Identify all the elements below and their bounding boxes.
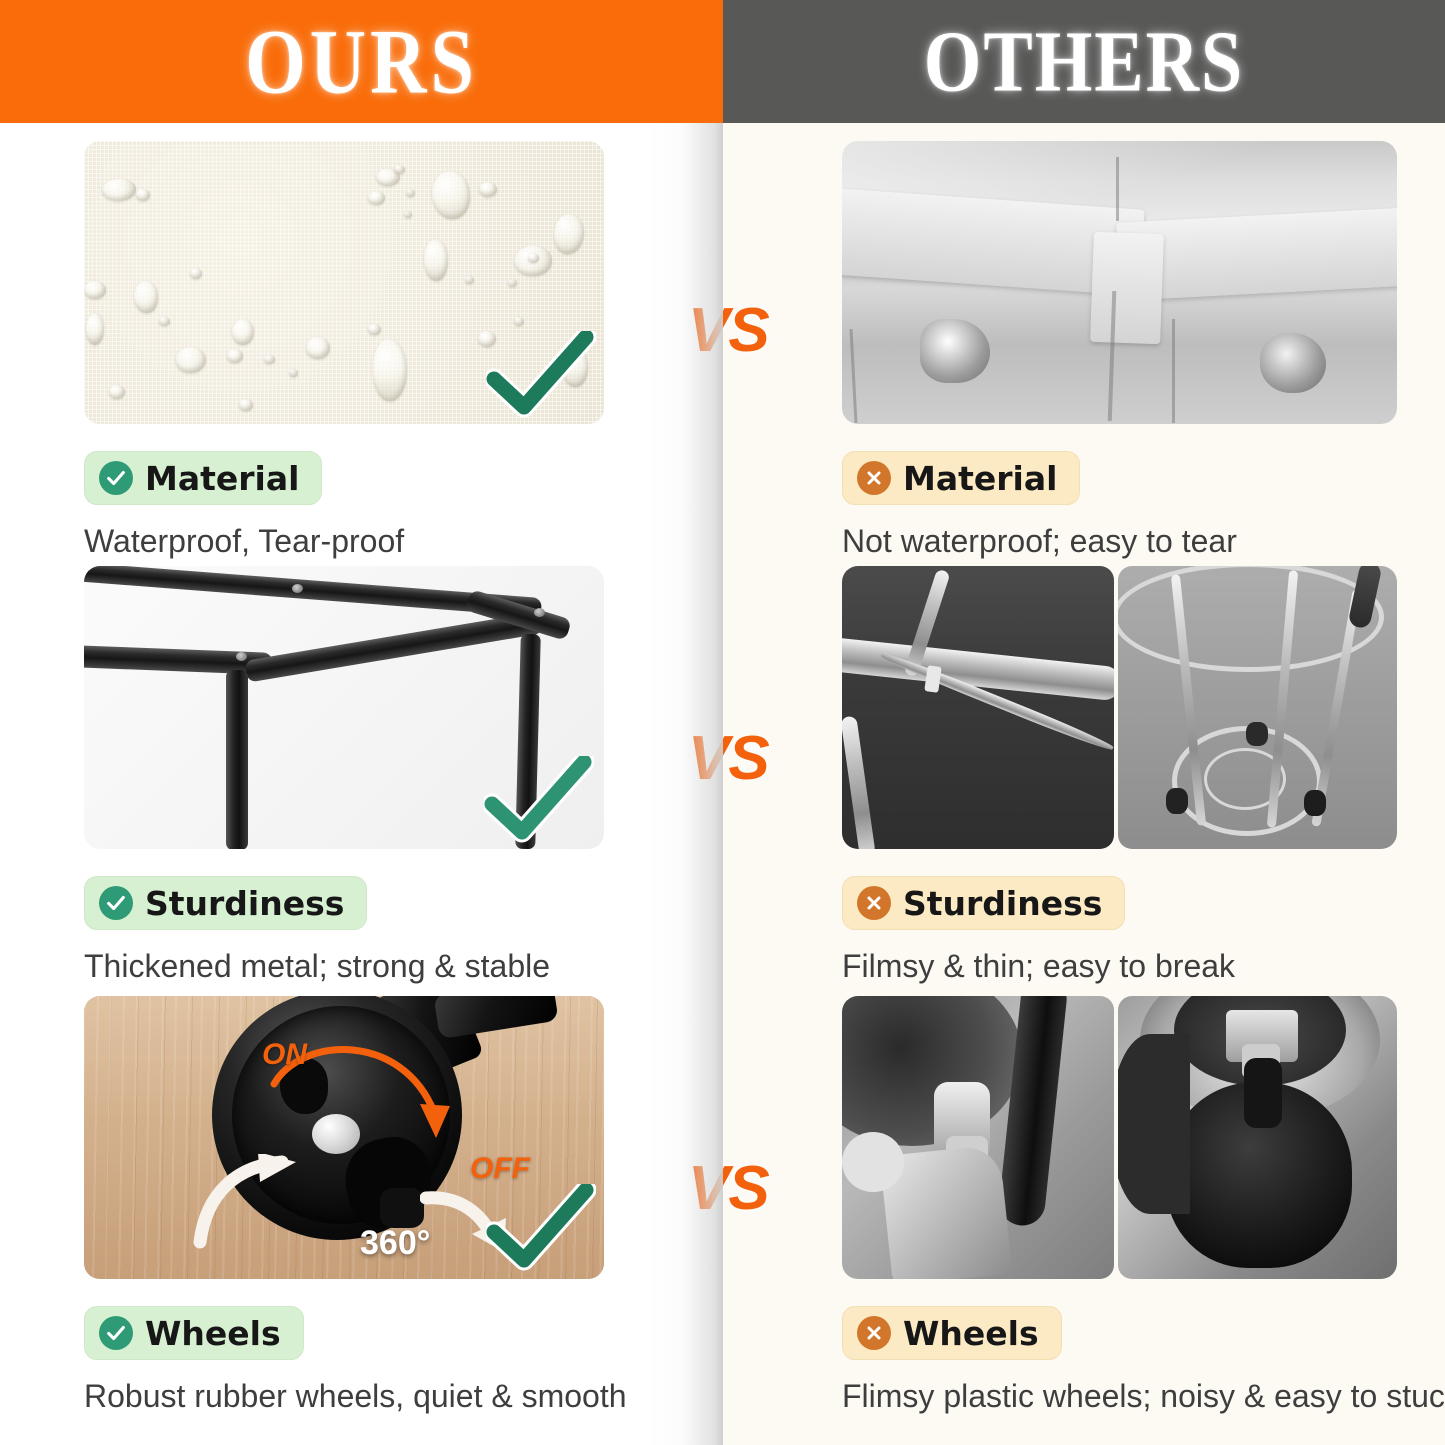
vs-separator-1: VS [688,300,769,362]
others-material-block: Material Not waterproof; easy to tear [842,141,1402,560]
plastic-wheel-image-a [842,996,1114,1279]
plastic-wheel-photo-b [1118,996,1397,1279]
ours-wheels-check-icon [486,1184,596,1272]
bent-tube-photo [842,566,1114,849]
ours-wheels-block: ON OFF 360° Wheels Robust rubber wheels,… [84,996,604,1415]
cross-circle-icon [857,461,891,495]
others-wheels-description: Flimsy plastic wheels; noisy & easy to s… [842,1378,1402,1415]
others-header-panel: OTHERS [723,0,1445,123]
cross-circle-icon [857,886,891,920]
vs-separator-2: VS [688,728,769,790]
comparison-infographic: OURS OTHERS [0,0,1445,1445]
wheel-on-label: ON [262,1040,307,1070]
ours-wheels-badge-label: Wheels [145,1317,281,1350]
ours-sturdiness-badge: Sturdiness [84,876,367,930]
ours-wheels-photo: ON OFF 360° [84,996,604,1279]
ours-wheels-badge: Wheels [84,1306,304,1360]
ours-material-block: Material Waterproof, Tear-proof [84,141,604,560]
check-circle-icon [99,1316,133,1350]
others-wheels-badge-label: Wheels [903,1317,1039,1350]
wheel-360-label: 360° [360,1226,430,1260]
ours-sturdiness-badge-label: Sturdiness [145,887,344,920]
ours-sturdiness-description: Thickened metal; strong & stable [84,948,604,985]
others-material-badge: Material [842,451,1080,505]
check-circle-icon [99,886,133,920]
check-circle-icon [99,461,133,495]
flimsy-cart-image [1118,566,1397,849]
plastic-wheel-photo-a [842,996,1114,1279]
wheel-off-label: OFF [470,1154,530,1184]
vs-separator-3: VS [688,1158,769,1220]
plastic-wheel-image-b [1118,996,1397,1279]
others-wheels-badge: Wheels [842,1306,1062,1360]
ours-title: OURS [245,15,478,107]
flimsy-cart-photo [1118,566,1397,849]
others-title: OTHERS [924,18,1244,105]
ours-material-badge-label: Material [145,462,299,495]
torn-fabric-image [842,141,1397,424]
others-sturdiness-block: Sturdiness Filmsy & thin; easy to break [842,566,1402,985]
ours-material-badge: Material [84,451,322,505]
ours-material-description: Waterproof, Tear-proof [84,523,604,560]
others-material-description: Not waterproof; easy to tear [842,523,1402,560]
others-sturdiness-badge: Sturdiness [842,876,1125,930]
others-wheels-photo [842,996,1397,1279]
others-sturdiness-photo [842,566,1397,849]
others-sturdiness-badge-label: Sturdiness [903,887,1102,920]
others-material-photo [842,141,1397,424]
cross-circle-icon [857,1316,891,1350]
others-sturdiness-description: Filmsy & thin; easy to break [842,948,1402,985]
rotation-arrow-left [184,1154,304,1254]
others-wheels-block: Wheels Flimsy plastic wheels; noisy & ea… [842,996,1402,1415]
torn-fabric-photo [842,141,1397,424]
bent-tube-image [842,566,1114,849]
others-material-badge-label: Material [903,462,1057,495]
ours-sturdiness-block: Sturdiness Thickened metal; strong & sta… [84,566,604,985]
ours-sturdiness-check-icon [484,756,594,844]
ours-material-check-icon [486,331,596,419]
ours-material-photo [84,141,604,424]
ours-sturdiness-photo [84,566,604,849]
ours-wheels-description: Robust rubber wheels, quiet & smooth [84,1378,604,1415]
ours-header-panel: OURS [0,0,723,123]
header-bar: OURS OTHERS [0,0,1445,123]
